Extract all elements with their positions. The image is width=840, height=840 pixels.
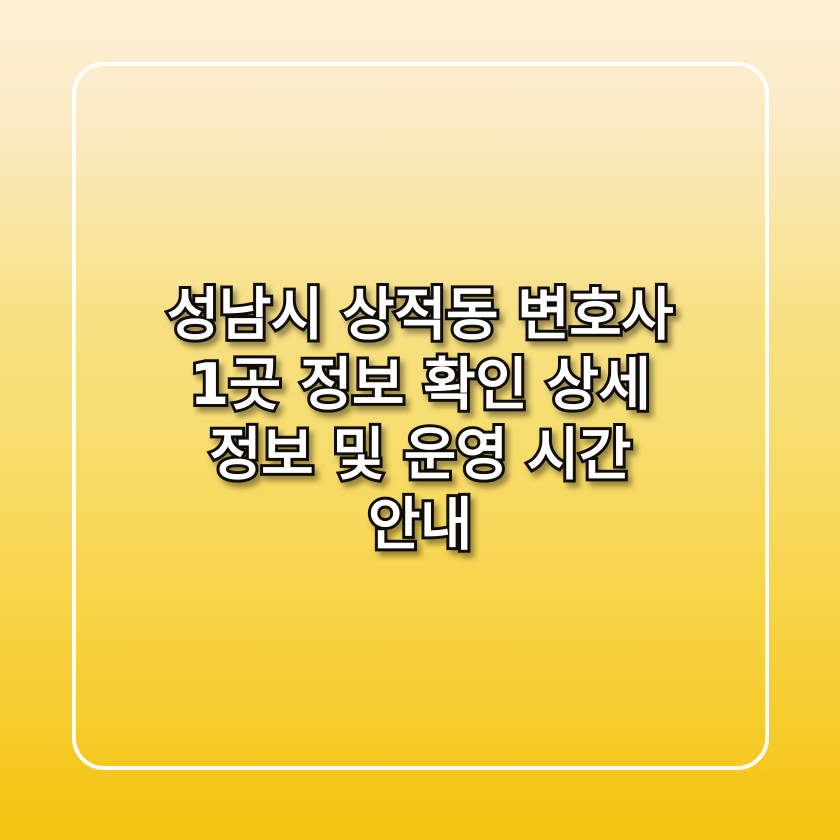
headline-container: 성남시 상적동 변호사 1곳 정보 확인 상세 정보 및 운영 시간 안내	[0, 0, 840, 840]
thumbnail-card: 성남시 상적동 변호사 1곳 정보 확인 상세 정보 및 운영 시간 안내	[0, 0, 840, 840]
headline-line-3: 정보 및 운영 시간	[110, 420, 730, 490]
page-title: 성남시 상적동 변호사 1곳 정보 확인 상세 정보 및 운영 시간 안내	[110, 280, 730, 560]
headline-line-1: 성남시 상적동 변호사	[110, 280, 730, 350]
headline-line-2: 1곳 정보 확인 상세	[110, 350, 730, 420]
headline-line-4: 안내	[110, 490, 730, 560]
